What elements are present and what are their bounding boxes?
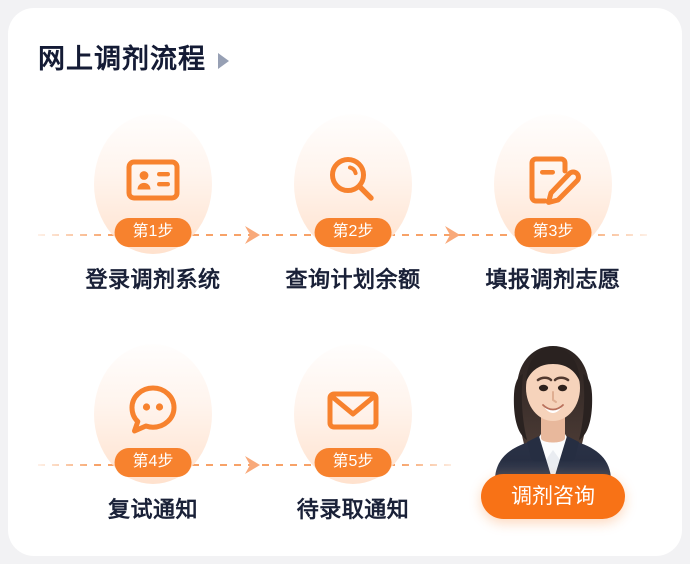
step-label: 复试通知 [108,492,198,524]
flow-row-1: 第1步 登录调剂系统 第2步 查询计划余额 [8,104,682,304]
step-label: 待录取通知 [297,492,410,524]
flow-step-5[interactable]: 第5步 待录取通知 [253,334,453,534]
consultation-button[interactable]: 调剂咨询 [481,474,625,519]
flow-step-3[interactable]: 第3步 填报调剂志愿 [453,104,653,304]
page-title: 网上调剂流程 [38,46,206,73]
flow-row-2: 第4步 复试通知 第5步 待录取通知 [8,334,682,534]
envelope-icon [321,378,385,442]
triangle-right-icon[interactable] [218,53,229,69]
step-label: 登录调剂系统 [85,262,220,294]
chat-bubble-icon [121,378,185,442]
search-icon [321,148,385,212]
step-badge: 第2步 [315,218,392,247]
flow-step-1[interactable]: 第1步 登录调剂系统 [53,104,253,304]
page-header: 网上调剂流程 [38,46,229,73]
document-edit-icon [521,148,585,212]
flow-step-2[interactable]: 第2步 查询计划余额 [253,104,453,304]
step-label: 填报调剂志愿 [485,262,620,294]
step-badge: 第3步 [515,218,592,247]
step-label: 查询计划余额 [285,262,420,294]
consultant-block: 调剂咨询 [453,334,653,534]
step-badge: 第5步 [315,448,392,477]
step-badge: 第4步 [115,448,192,477]
flow-step-4[interactable]: 第4步 复试通知 [53,334,253,534]
flow-card: 网上调剂流程 [8,8,682,556]
step-badge: 第1步 [115,218,192,247]
id-card-icon [121,148,185,212]
